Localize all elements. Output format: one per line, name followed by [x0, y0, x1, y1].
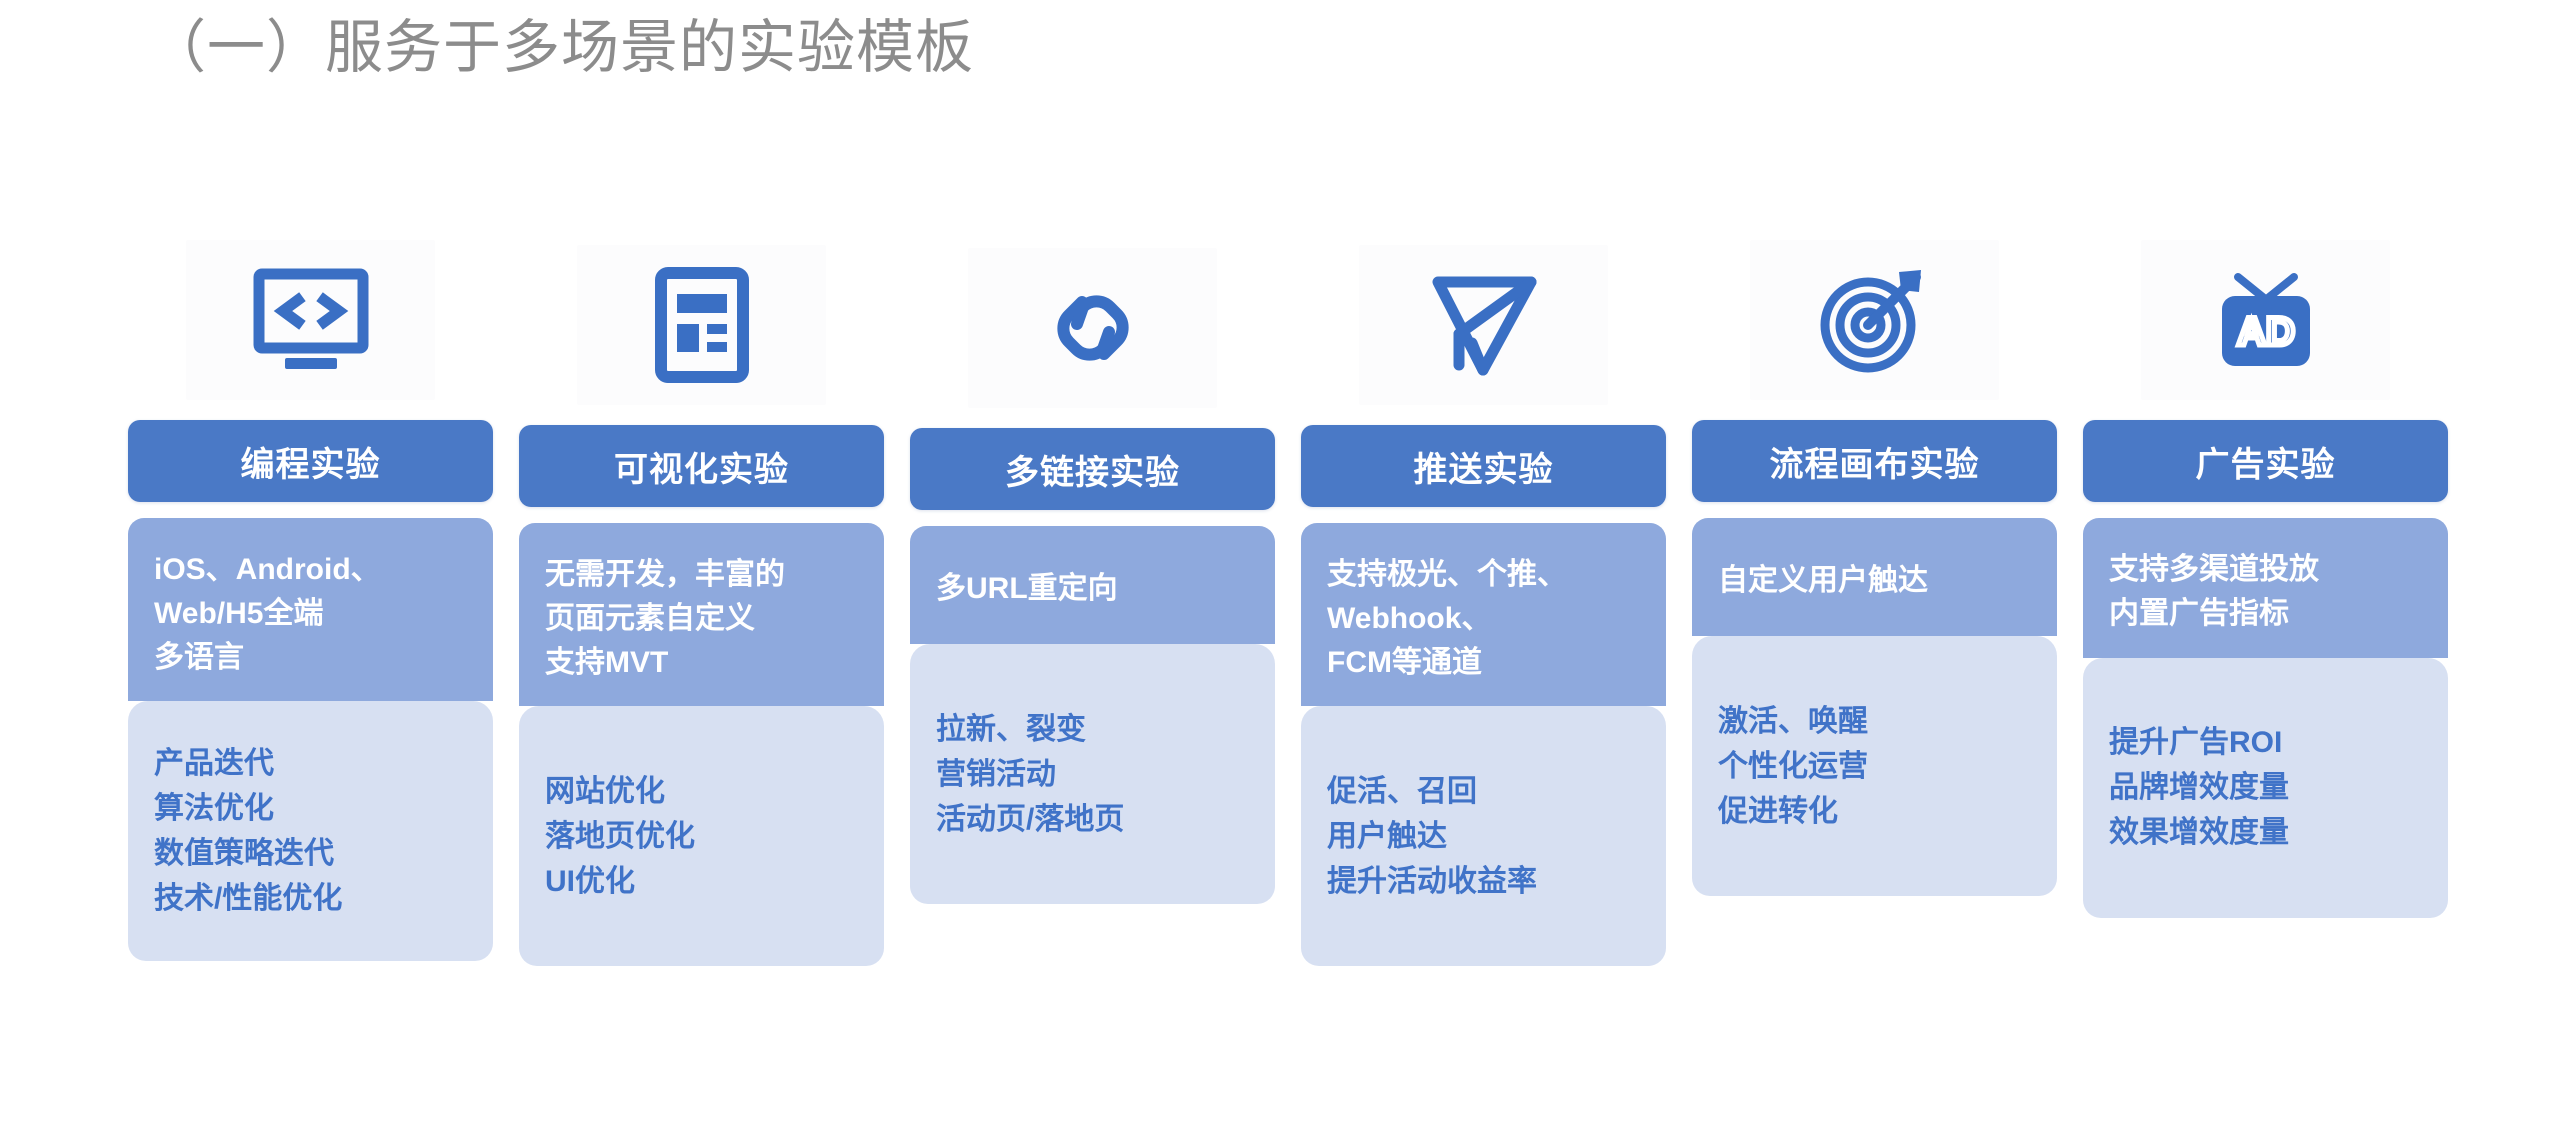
feature-line: 多URL重定向 [936, 567, 1249, 611]
feature-line: 支持多渠道投放 [2109, 548, 2422, 592]
scenario-line: 用户触达 [1327, 814, 1640, 859]
experiment-column-1[interactable]: 编程实验iOS、Android、Web/H5全端多语言产品迭代算法优化数值策略迭… [128, 240, 493, 961]
paper-plane-send-icon [1359, 245, 1608, 405]
column-header-label: 编程实验 [241, 437, 381, 486]
scenario-line: 促活、召回 [1327, 769, 1640, 814]
scenario-line: 营销活动 [936, 752, 1249, 797]
experiment-column-6[interactable]: AD 广告实验支持多渠道投放内置广告指标提升广告ROI品牌增效度量效果增效度量 [2083, 240, 2448, 918]
feature-line: 页面元素自定义 [545, 597, 858, 641]
svg-text:AD: AD [2237, 310, 2295, 354]
feature-line: 多语言 [154, 636, 467, 680]
column-features-panel-5: 自定义用户触达 [1692, 518, 2057, 636]
page-title: （一）服务于多场景的实验模板 [148, 12, 974, 85]
column-header-label: 可视化实验 [614, 442, 789, 491]
scenario-line: 落地页优化 [545, 814, 858, 859]
scenario-line: 促进转化 [1718, 789, 2031, 834]
target-dart-icon [1750, 240, 1999, 400]
feature-line: 支持极光、个推、 [1327, 553, 1640, 597]
experiment-column-3[interactable]: 多链接实验多URL重定向拉新、裂变营销活动活动页/落地页 [910, 248, 1275, 904]
column-features-panel-1: iOS、Android、Web/H5全端多语言 [128, 518, 493, 701]
experiment-column-5[interactable]: 流程画布实验自定义用户触达激活、唤醒个性化运营促进转化 [1692, 240, 2057, 896]
column-scenarios-panel-5: 激活、唤醒个性化运营促进转化 [1692, 636, 2057, 896]
column-header-band-3[interactable]: 多链接实验 [910, 428, 1275, 510]
feature-line: 无需开发，丰富的 [545, 553, 858, 597]
column-header-label: 多链接实验 [1005, 445, 1180, 494]
column-scenarios-panel-1: 产品迭代算法优化数值策略迭代技术/性能优化 [128, 701, 493, 961]
feature-line: iOS、Android、 [154, 548, 467, 592]
column-header-band-1[interactable]: 编程实验 [128, 420, 493, 502]
scenario-line: 产品迭代 [154, 741, 467, 786]
scenario-line: 技术/性能优化 [154, 876, 467, 921]
scenario-line: 算法优化 [154, 786, 467, 831]
page-layout-icon [577, 245, 826, 405]
scenario-line: 数值策略迭代 [154, 831, 467, 876]
scenario-line: 活动页/落地页 [936, 797, 1249, 842]
feature-line: FCM等通道 [1327, 641, 1640, 685]
experiment-column-2[interactable]: 可视化实验无需开发，丰富的页面元素自定义支持MVT网站优化落地页优化UI优化 [519, 245, 884, 966]
feature-line: 自定义用户触达 [1718, 559, 2031, 603]
chain-link-icon [968, 248, 1217, 408]
code-monitor-icon [186, 240, 435, 400]
scenario-line: UI优化 [545, 859, 858, 904]
column-scenarios-panel-4: 促活、召回用户触达提升活动收益率 [1301, 706, 1666, 966]
scenario-line: 个性化运营 [1718, 744, 2031, 789]
ad-tv-icon: AD [2141, 240, 2390, 400]
scenario-line: 网站优化 [545, 769, 858, 814]
column-features-panel-4: 支持极光、个推、Webhook、FCM等通道 [1301, 523, 1666, 706]
column-scenarios-panel-3: 拉新、裂变营销活动活动页/落地页 [910, 644, 1275, 904]
column-header-label: 推送实验 [1414, 442, 1554, 491]
scenario-line: 拉新、裂变 [936, 707, 1249, 752]
feature-line: 支持MVT [545, 641, 858, 685]
column-features-panel-3: 多URL重定向 [910, 526, 1275, 644]
column-scenarios-panel-2: 网站优化落地页优化UI优化 [519, 706, 884, 966]
scenario-line: 提升活动收益率 [1327, 859, 1640, 904]
column-header-label: 广告实验 [2196, 437, 2336, 486]
feature-line: Web/H5全端 [154, 592, 467, 636]
column-scenarios-panel-6: 提升广告ROI品牌增效度量效果增效度量 [2083, 658, 2448, 918]
scenario-line: 提升广告ROI [2109, 720, 2422, 765]
scenario-line: 效果增效度量 [2109, 810, 2422, 855]
column-features-panel-2: 无需开发，丰富的页面元素自定义支持MVT [519, 523, 884, 706]
feature-line: Webhook、 [1327, 597, 1640, 641]
column-header-band-2[interactable]: 可视化实验 [519, 425, 884, 507]
feature-line: 内置广告指标 [2109, 592, 2422, 636]
column-header-band-4[interactable]: 推送实验 [1301, 425, 1666, 507]
column-header-band-5[interactable]: 流程画布实验 [1692, 420, 2057, 502]
scenario-line: 品牌增效度量 [2109, 765, 2422, 810]
column-features-panel-6: 支持多渠道投放内置广告指标 [2083, 518, 2448, 658]
column-header-label: 流程画布实验 [1770, 437, 1980, 486]
experiment-column-4[interactable]: 推送实验支持极光、个推、Webhook、FCM等通道促活、召回用户触达提升活动收… [1301, 245, 1666, 966]
template-columns-grid: 编程实验iOS、Android、Web/H5全端多语言产品迭代算法优化数值策略迭… [128, 240, 2448, 1110]
column-header-band-6[interactable]: 广告实验 [2083, 420, 2448, 502]
scenario-line: 激活、唤醒 [1718, 699, 2031, 744]
